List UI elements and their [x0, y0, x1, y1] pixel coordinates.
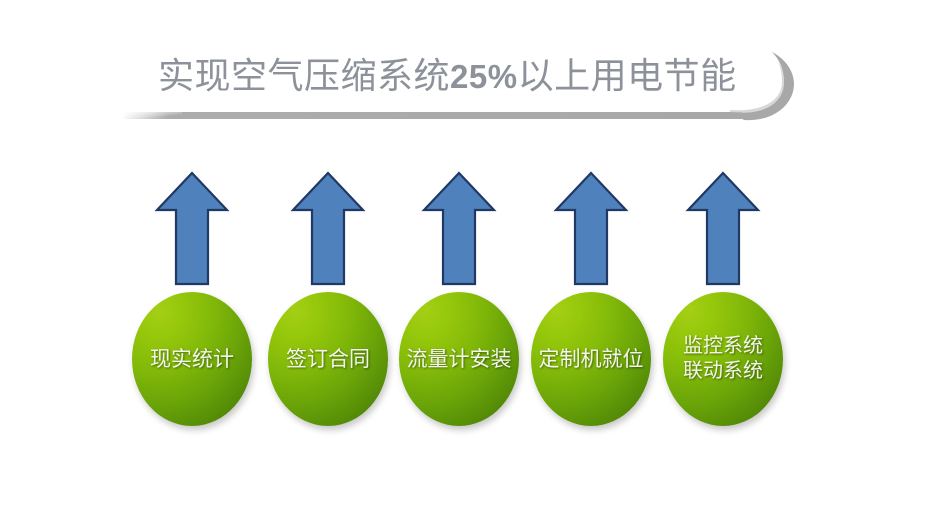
title-segment-after: 以上用电节能	[518, 56, 737, 96]
process-sphere-label-1: 现实统计	[146, 347, 238, 372]
up-arrow-icon-1	[154, 170, 230, 288]
process-sphere-label-2: 签订合同	[282, 347, 374, 372]
process-sphere-3[interactable]: 流量计安装	[399, 292, 519, 426]
process-sphere-label-3: 流量计安装	[403, 347, 516, 372]
process-sphere-1[interactable]: 现实统计	[132, 292, 252, 426]
process-sphere-label-4: 定制机就位	[535, 347, 648, 372]
title-underline-rule	[122, 112, 742, 119]
process-sphere-4[interactable]: 定制机就位	[531, 292, 651, 426]
title-segment-percent: 25%	[450, 58, 518, 95]
crescent-hook-icon	[726, 50, 802, 122]
process-sphere-2[interactable]: 签订合同	[268, 292, 388, 426]
title-banner: 实现空气压缩系统25%以上用电节能	[118, 40, 798, 135]
title-segment-before: 实现空气压缩系统	[158, 56, 450, 96]
up-arrow-icon-3	[421, 170, 497, 288]
process-sphere-label-5: 监控系统 联动系统	[679, 334, 767, 384]
up-arrow-icon-2	[290, 170, 366, 288]
up-arrow-icon-4	[553, 170, 629, 288]
slide-canvas: 实现空气压缩系统25%以上用电节能	[0, 0, 945, 529]
up-arrow-icon-5	[685, 170, 761, 288]
process-sphere-5[interactable]: 监控系统 联动系统	[663, 292, 783, 426]
page-title: 实现空气压缩系统25%以上用电节能	[158, 48, 758, 104]
